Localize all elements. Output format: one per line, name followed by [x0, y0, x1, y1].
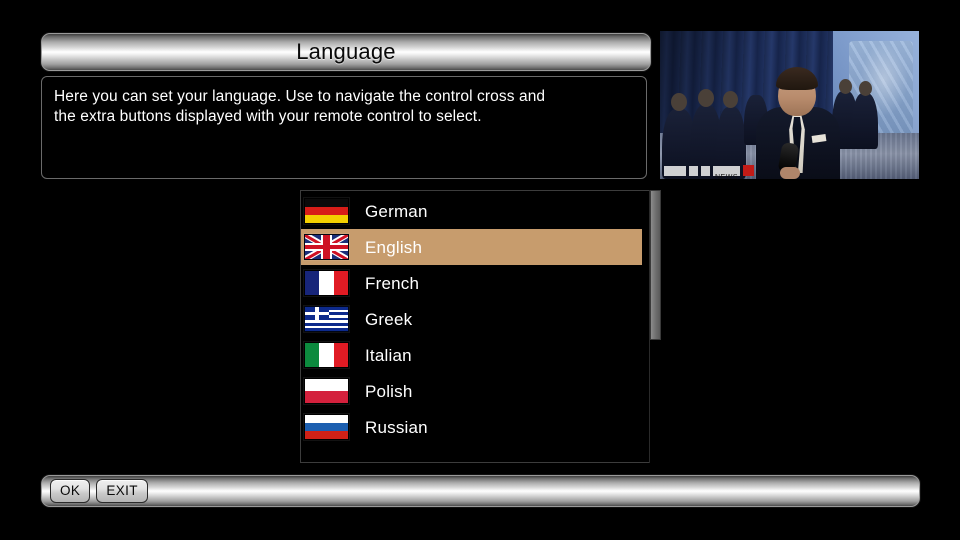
crowd-figure — [852, 93, 878, 149]
language-list: German English French — [301, 193, 642, 445]
crowd-figure-head — [723, 91, 738, 108]
watermark-block — [689, 166, 698, 176]
scrollbar-thumb[interactable] — [650, 190, 661, 340]
language-label: German — [365, 203, 428, 220]
list-item-greek[interactable]: Greek — [301, 301, 642, 337]
flag-germany-icon — [304, 198, 349, 224]
list-item-french[interactable]: French — [301, 265, 642, 301]
exit-button[interactable]: EXIT — [96, 479, 148, 504]
language-label: Russian — [365, 419, 428, 436]
watermark-label: NEWS — [713, 166, 740, 176]
bottom-action-bar: OK EXIT — [41, 475, 920, 507]
tv-settings-screen: Language Here you can set your language.… — [0, 0, 960, 540]
crowd-figure-head — [839, 79, 852, 94]
flag-greece-icon — [304, 306, 349, 332]
watermark-block — [701, 166, 710, 176]
video-preview[interactable]: NEWS — [660, 31, 919, 179]
list-item-german[interactable]: German — [301, 193, 642, 229]
description-panel: Here you can set your language. Use to n… — [41, 76, 647, 179]
language-label: Greek — [365, 311, 412, 328]
page-title: Language — [296, 41, 395, 63]
crowd-figure-head — [698, 89, 714, 107]
description-text: Here you can set your language. Use to n… — [54, 87, 634, 126]
flag-united-kingdom-icon — [304, 234, 349, 260]
flag-france-icon — [304, 270, 349, 296]
list-scrollbar[interactable] — [649, 190, 660, 463]
title-bar: Language — [41, 33, 651, 71]
crowd-figure-head — [671, 93, 687, 111]
language-label: English — [365, 239, 422, 256]
list-item-italian[interactable]: Italian — [301, 337, 642, 373]
language-label: Italian — [365, 347, 412, 364]
list-item-english[interactable]: English — [301, 229, 642, 265]
watermark-block — [664, 166, 686, 176]
flag-italy-icon — [304, 342, 349, 368]
language-list-panel: German English French — [300, 190, 659, 463]
language-label: Polish — [365, 383, 413, 400]
reporter-hand — [780, 167, 800, 179]
list-item-russian[interactable]: Russian — [301, 409, 642, 445]
crowd-figure-head — [859, 81, 872, 96]
watermark-logo-icon — [743, 165, 754, 176]
flag-poland-icon — [304, 378, 349, 404]
flag-russia-icon — [304, 414, 349, 440]
ok-button[interactable]: OK — [50, 479, 90, 504]
channel-watermark: NEWS — [662, 165, 756, 176]
list-item-polish[interactable]: Polish — [301, 373, 642, 409]
language-label: French — [365, 275, 419, 292]
